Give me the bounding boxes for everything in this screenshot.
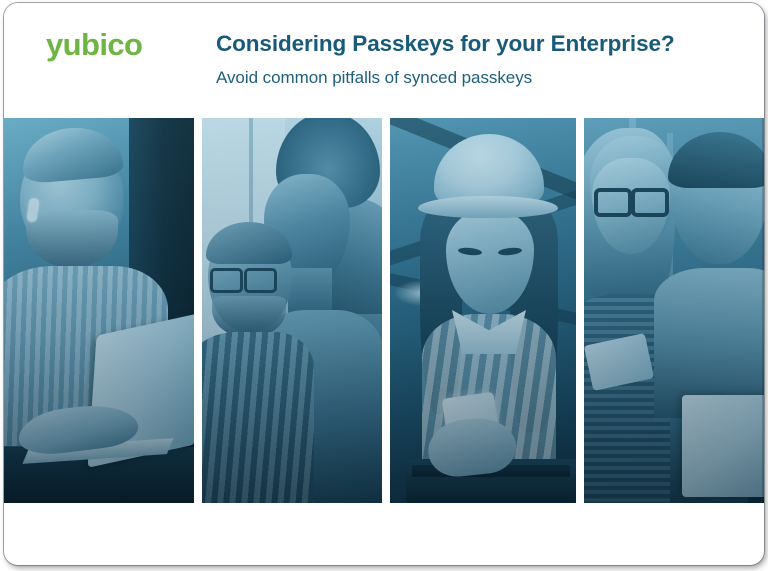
photo-panel-2 <box>202 118 382 503</box>
headline-title: Considering Passkeys for your Enterprise… <box>216 31 675 57</box>
photo-panel-4 <box>584 118 764 503</box>
slide-header: yubico Considering Passkeys for your Ent… <box>4 3 764 118</box>
panel-gap-3 <box>576 118 584 503</box>
panel-2-eyeglasses-icon <box>210 268 276 288</box>
photo-panel-1 <box>4 118 194 503</box>
panel-2-person-1-plaid-shirt <box>202 332 314 503</box>
photo-panel-3 <box>390 118 576 503</box>
panel-gap-1 <box>194 118 202 503</box>
panel-3-hard-hat-brim <box>418 196 558 218</box>
photo-strip <box>4 118 764 503</box>
panel-4-eyeglasses-icon <box>594 188 666 210</box>
slide-card: yubico Considering Passkeys for your Ent… <box>4 3 764 565</box>
panel-gap-2 <box>382 118 390 503</box>
footer-band <box>4 503 764 565</box>
panel-4-laptop <box>682 395 764 497</box>
panel-4-edge-shadow <box>762 118 764 503</box>
subheadline-text: Avoid common pitfalls of synced passkeys <box>216 68 532 88</box>
yubico-logo: yubico <box>46 29 142 60</box>
